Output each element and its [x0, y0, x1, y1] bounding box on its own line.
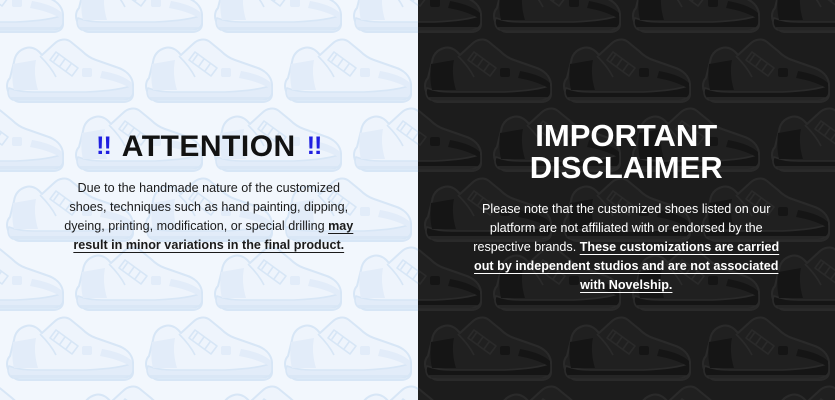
disclaimer-body-text: Please note that the customized shoes li… [466, 200, 786, 296]
double-exclamation-left-icon: !! [96, 134, 111, 159]
disclaimer-banner: !! ATTENTION !! Due to the handmade natu… [0, 0, 835, 400]
attention-heading: !! ATTENTION !! [0, 0, 418, 162]
attention-heading-word: ATTENTION [122, 132, 296, 162]
disclaimer-heading-line2: DISCLAIMER [418, 152, 835, 184]
attention-body-normal: Due to the handmade nature of the custom… [64, 181, 348, 233]
disclaimer-panel: IMPORTANT DISCLAIMER Please note that th… [418, 0, 835, 400]
attention-content: !! ATTENTION !! Due to the handmade natu… [0, 0, 418, 256]
double-exclamation-right-icon: !! [307, 134, 322, 159]
disclaimer-content: IMPORTANT DISCLAIMER Please note that th… [418, 0, 835, 296]
attention-body-text: Due to the handmade nature of the custom… [59, 179, 359, 256]
disclaimer-heading-line1: IMPORTANT [418, 120, 835, 152]
attention-panel: !! ATTENTION !! Due to the handmade natu… [0, 0, 418, 400]
disclaimer-heading: IMPORTANT DISCLAIMER [418, 0, 835, 184]
